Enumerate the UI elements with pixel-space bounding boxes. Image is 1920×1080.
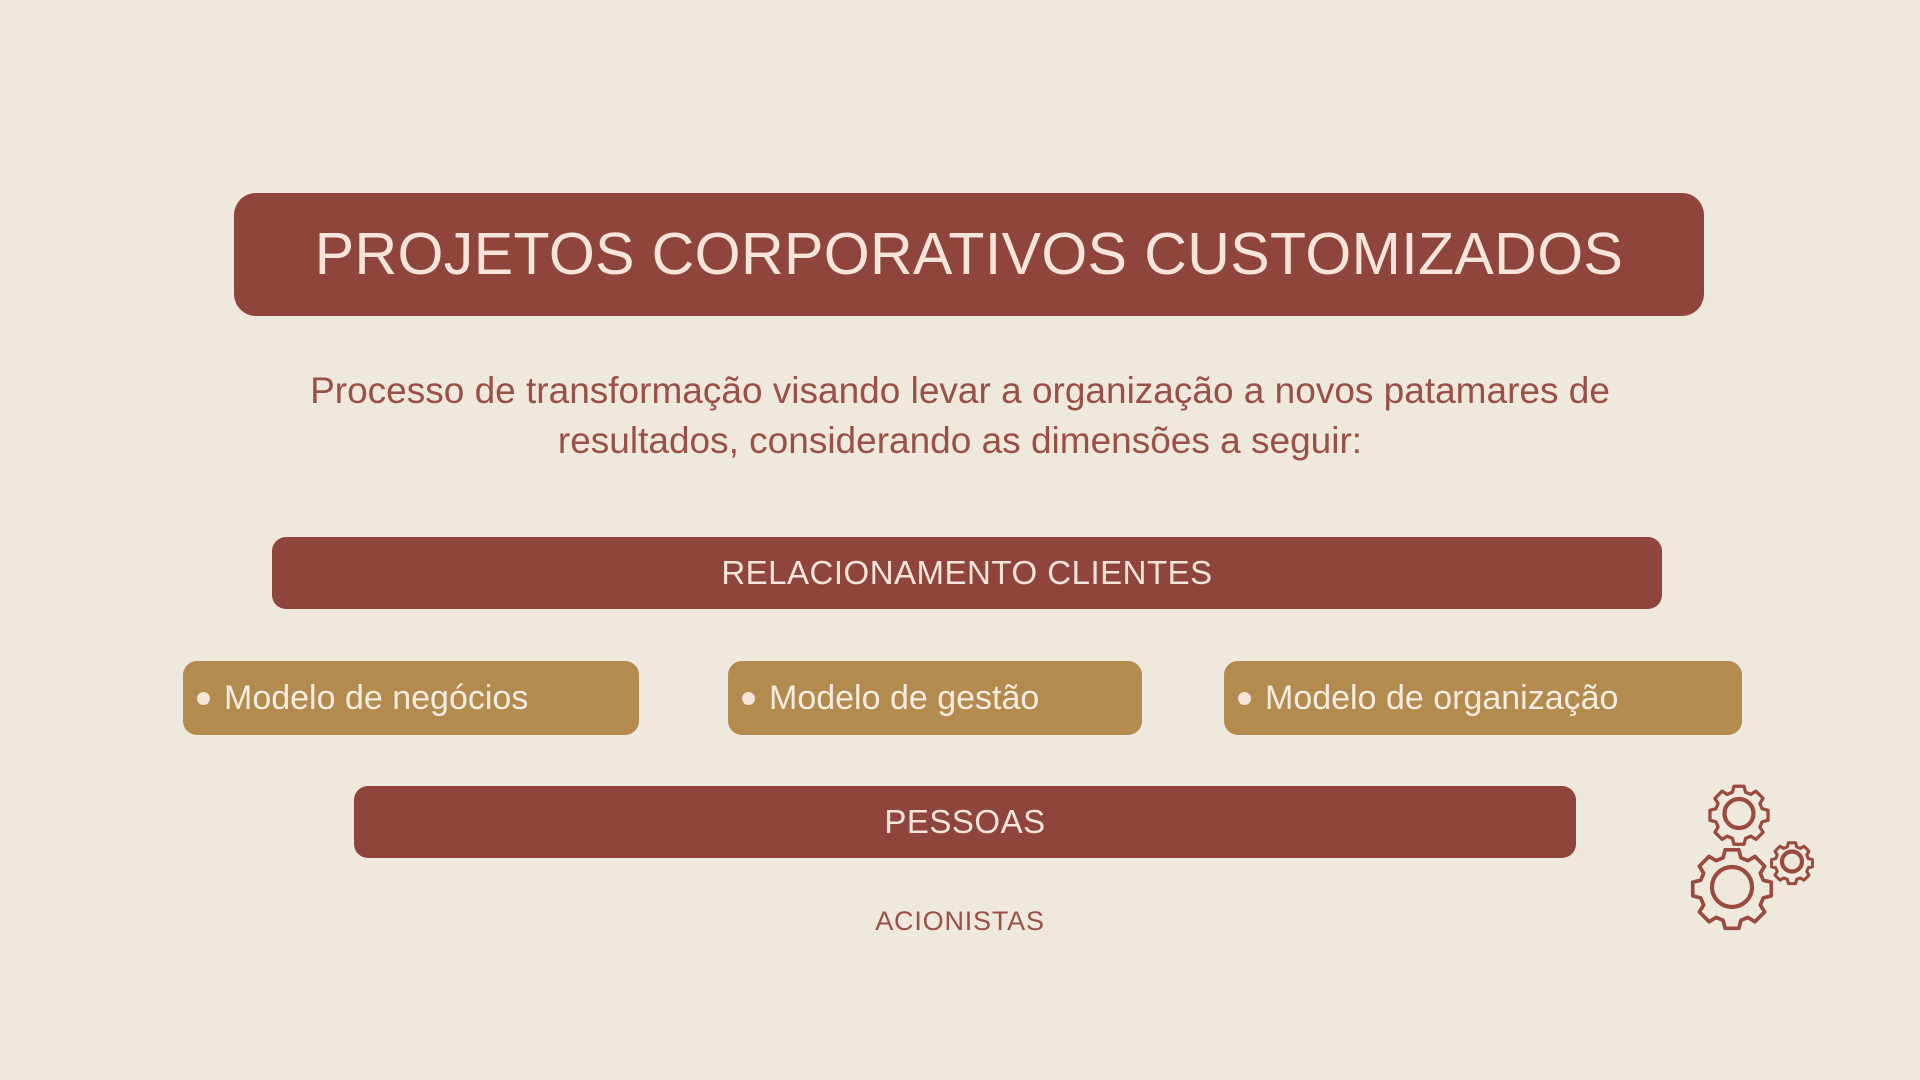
- subtitle-line-1: Processo de transformação visando levar …: [160, 366, 1760, 416]
- subtitle-paragraph: Processo de transformação visando levar …: [160, 366, 1760, 466]
- dimension-label-acionistas: ACIONISTAS: [754, 906, 1166, 937]
- bullet-icon: [742, 692, 755, 705]
- slide-canvas: PROJETOS CORPORATIVOS CUSTOMIZADOS Proce…: [0, 0, 1920, 1080]
- dimension-bar-label: PESSOAS: [884, 803, 1045, 841]
- model-pill-label: Modelo de organização: [1265, 679, 1618, 718]
- model-pill-label: Modelo de gestão: [769, 679, 1039, 718]
- title-banner: PROJETOS CORPORATIVOS CUSTOMIZADOS: [234, 193, 1704, 316]
- page-title: PROJETOS CORPORATIVOS CUSTOMIZADOS: [315, 224, 1624, 286]
- dimension-bar-label: RELACIONAMENTO CLIENTES: [721, 554, 1212, 592]
- bullet-icon: [1238, 692, 1251, 705]
- gears-icon: [1682, 768, 1830, 936]
- subtitle-line-2: resultados, considerando as dimensões a …: [160, 416, 1760, 466]
- dimension-bar-relacionamento-clientes: RELACIONAMENTO CLIENTES: [272, 537, 1662, 609]
- model-pill-negocios: Modelo de negócios: [183, 661, 639, 735]
- model-pill-label: Modelo de negócios: [224, 679, 528, 718]
- dimension-bar-pessoas: PESSOAS: [354, 786, 1576, 858]
- model-pill-organizacao: Modelo de organização: [1224, 661, 1742, 735]
- bullet-icon: [197, 692, 210, 705]
- model-pill-gestao: Modelo de gestão: [728, 661, 1142, 735]
